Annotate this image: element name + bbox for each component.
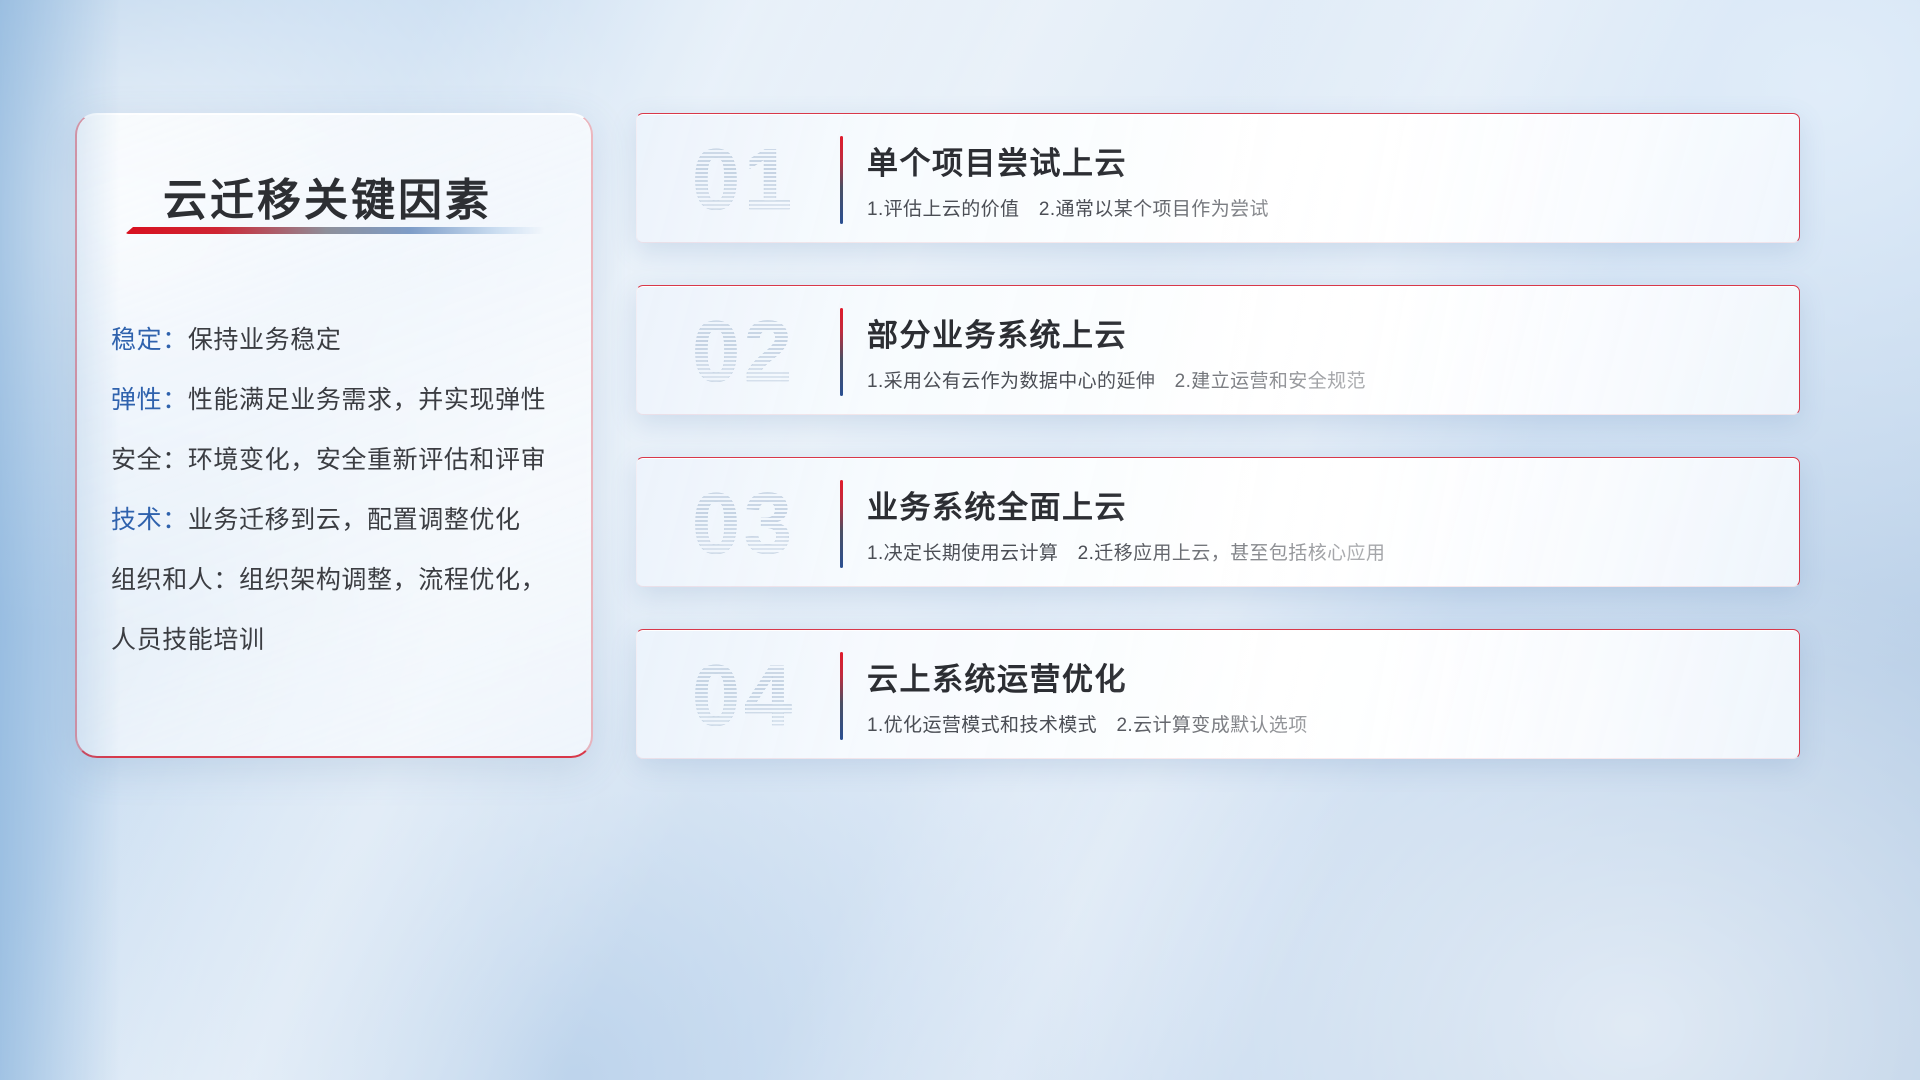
card-description: 1.采用公有云作为数据中心的延伸 2.建立运营和安全规范 bbox=[867, 366, 1366, 393]
stage-card-04[interactable]: 04 云上系统运营优化 1.优化运营模式和技术模式 2.云计算变成默认选项 bbox=[636, 629, 1800, 759]
list-item: 组织和人：组织架构调整，流程优化，人员技能培训 bbox=[111, 550, 567, 670]
list-item: 弹性：性能满足业务需求，并实现弹性 bbox=[111, 370, 567, 430]
slide-canvas: 云迁移关键因素 稳定：保持业务稳定 弹性：性能满足业务需求，并实现弹性 安全：环… bbox=[0, 0, 1920, 1080]
page-title: 云迁移关键因素 bbox=[163, 164, 492, 228]
list-item: 稳定：保持业务稳定 bbox=[111, 310, 567, 370]
card-description: 1.优化运营模式和技术模式 2.云计算变成默认选项 bbox=[867, 710, 1308, 737]
factor-label: 组织和人： bbox=[111, 566, 239, 594]
title-underline-gradient bbox=[125, 227, 545, 234]
stage-number-03: 03 bbox=[659, 472, 829, 576]
factor-text: 性能满足业务需求，并实现弹性 bbox=[188, 386, 546, 414]
stage-number-01: 01 bbox=[659, 128, 829, 232]
stage-card-02[interactable]: 02 部分业务系统上云 1.采用公有云作为数据中心的延伸 2.建立运营和安全规范 bbox=[636, 285, 1800, 415]
card-divider bbox=[840, 652, 843, 740]
stage-number-02: 02 bbox=[659, 300, 829, 404]
stage-card-01[interactable]: 01 单个项目尝试上云 1.评估上云的价值 2.通常以某个项目作为尝试 bbox=[636, 113, 1800, 243]
stage-number-04: 04 bbox=[659, 644, 829, 748]
factor-label: 技术： bbox=[111, 506, 188, 534]
card-divider bbox=[840, 308, 843, 396]
factor-label: 安全： bbox=[111, 446, 188, 474]
card-title: 单个项目尝试上云 bbox=[867, 138, 1127, 183]
stage-card-03[interactable]: 03 业务系统全面上云 1.决定长期使用云计算 2.迁移应用上云，甚至包括核心应… bbox=[636, 457, 1800, 587]
key-factors-list: 稳定：保持业务稳定 弹性：性能满足业务需求，并实现弹性 安全：环境变化，安全重新… bbox=[111, 310, 567, 670]
factor-label: 弹性： bbox=[111, 386, 188, 414]
card-title: 部分业务系统上云 bbox=[867, 310, 1127, 355]
key-factors-panel: 云迁移关键因素 稳定：保持业务稳定 弹性：性能满足业务需求，并实现弹性 安全：环… bbox=[75, 113, 593, 758]
card-divider bbox=[840, 136, 843, 224]
factor-text: 环境变化，安全重新评估和评审 bbox=[188, 446, 546, 474]
list-item: 技术：业务迁移到云，配置调整优化 bbox=[111, 490, 567, 550]
factor-text: 保持业务稳定 bbox=[188, 326, 342, 354]
list-item: 安全：环境变化，安全重新评估和评审 bbox=[111, 430, 567, 490]
factor-label: 稳定： bbox=[111, 326, 188, 354]
card-title: 云上系统运营优化 bbox=[867, 654, 1127, 699]
stage-cards-list: 01 单个项目尝试上云 1.评估上云的价值 2.通常以某个项目作为尝试 02 部… bbox=[636, 113, 1836, 801]
card-description: 1.评估上云的价值 2.通常以某个项目作为尝试 bbox=[867, 194, 1269, 221]
factor-text: 业务迁移到云，配置调整优化 bbox=[188, 506, 521, 534]
card-description: 1.决定长期使用云计算 2.迁移应用上云，甚至包括核心应用 bbox=[867, 538, 1385, 565]
card-title: 业务系统全面上云 bbox=[867, 482, 1127, 527]
card-divider bbox=[840, 480, 843, 568]
